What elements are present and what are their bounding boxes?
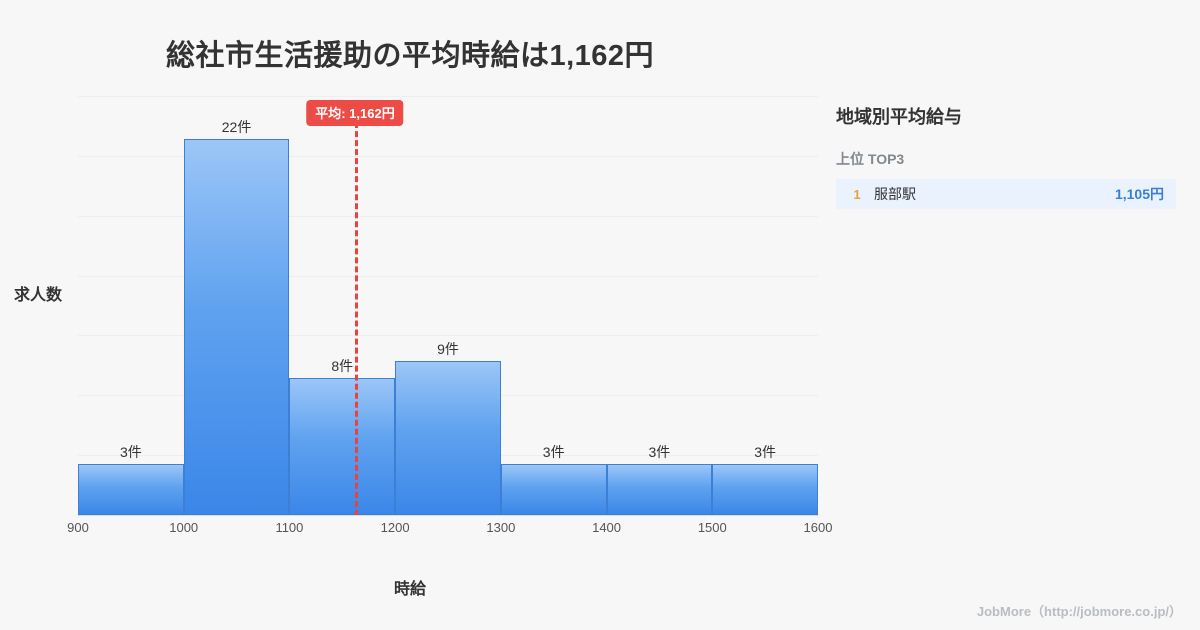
bar-value-label: 9件	[395, 339, 501, 359]
bar-value-label: 3件	[607, 442, 713, 462]
rank-number: 1	[846, 187, 868, 202]
panel-title: 地域別平均給与	[836, 103, 1176, 129]
average-badge: 平均: 1,162円	[306, 100, 403, 126]
bar-value-label: 3件	[78, 442, 184, 462]
y-axis-label: 求人数	[14, 281, 62, 305]
x-tick-label: 1000	[154, 520, 214, 535]
bar-value-label: 22件	[184, 117, 290, 137]
x-axis	[78, 515, 818, 516]
rank-wage-value: 1,105円	[1115, 184, 1164, 204]
x-axis-label: 時給	[0, 575, 820, 599]
bar	[78, 464, 184, 515]
bar-value-label: 3件	[501, 442, 607, 462]
bar	[395, 361, 501, 515]
x-tick-label: 1500	[682, 520, 742, 535]
bar	[607, 464, 713, 515]
ranking-list: 1服部駅1,105円	[836, 179, 1176, 209]
x-tick-label: 900	[48, 520, 108, 535]
bar	[289, 378, 395, 515]
panel-subtitle: 上位 TOP3	[836, 149, 1176, 169]
bar	[501, 464, 607, 515]
bar-value-label: 3件	[712, 442, 818, 462]
x-tick-label: 1600	[788, 520, 848, 535]
footer-credit: JobMore（http://jobmore.co.jp/）	[977, 601, 1182, 620]
x-tick-label: 1400	[577, 520, 637, 535]
page-title: 総社市生活援助の平均時給は1,162円	[0, 32, 820, 74]
x-tick-label: 1100	[259, 520, 319, 535]
gridline	[78, 96, 818, 97]
list-item[interactable]: 1服部駅1,105円	[836, 179, 1176, 209]
bar	[712, 464, 818, 515]
x-tick-label: 1200	[365, 520, 425, 535]
x-tick-label: 1300	[471, 520, 531, 535]
histogram-plot-area: 3件22件8件9件3件3件3件 平均: 1,162円 9001000110012…	[78, 96, 818, 516]
bar	[184, 139, 290, 515]
average-line	[355, 104, 358, 516]
rank-station-name: 服部駅	[868, 184, 1115, 204]
regional-average-panel: 地域別平均給与 上位 TOP3 1服部駅1,105円	[836, 103, 1176, 209]
bar-value-label: 8件	[289, 356, 395, 376]
